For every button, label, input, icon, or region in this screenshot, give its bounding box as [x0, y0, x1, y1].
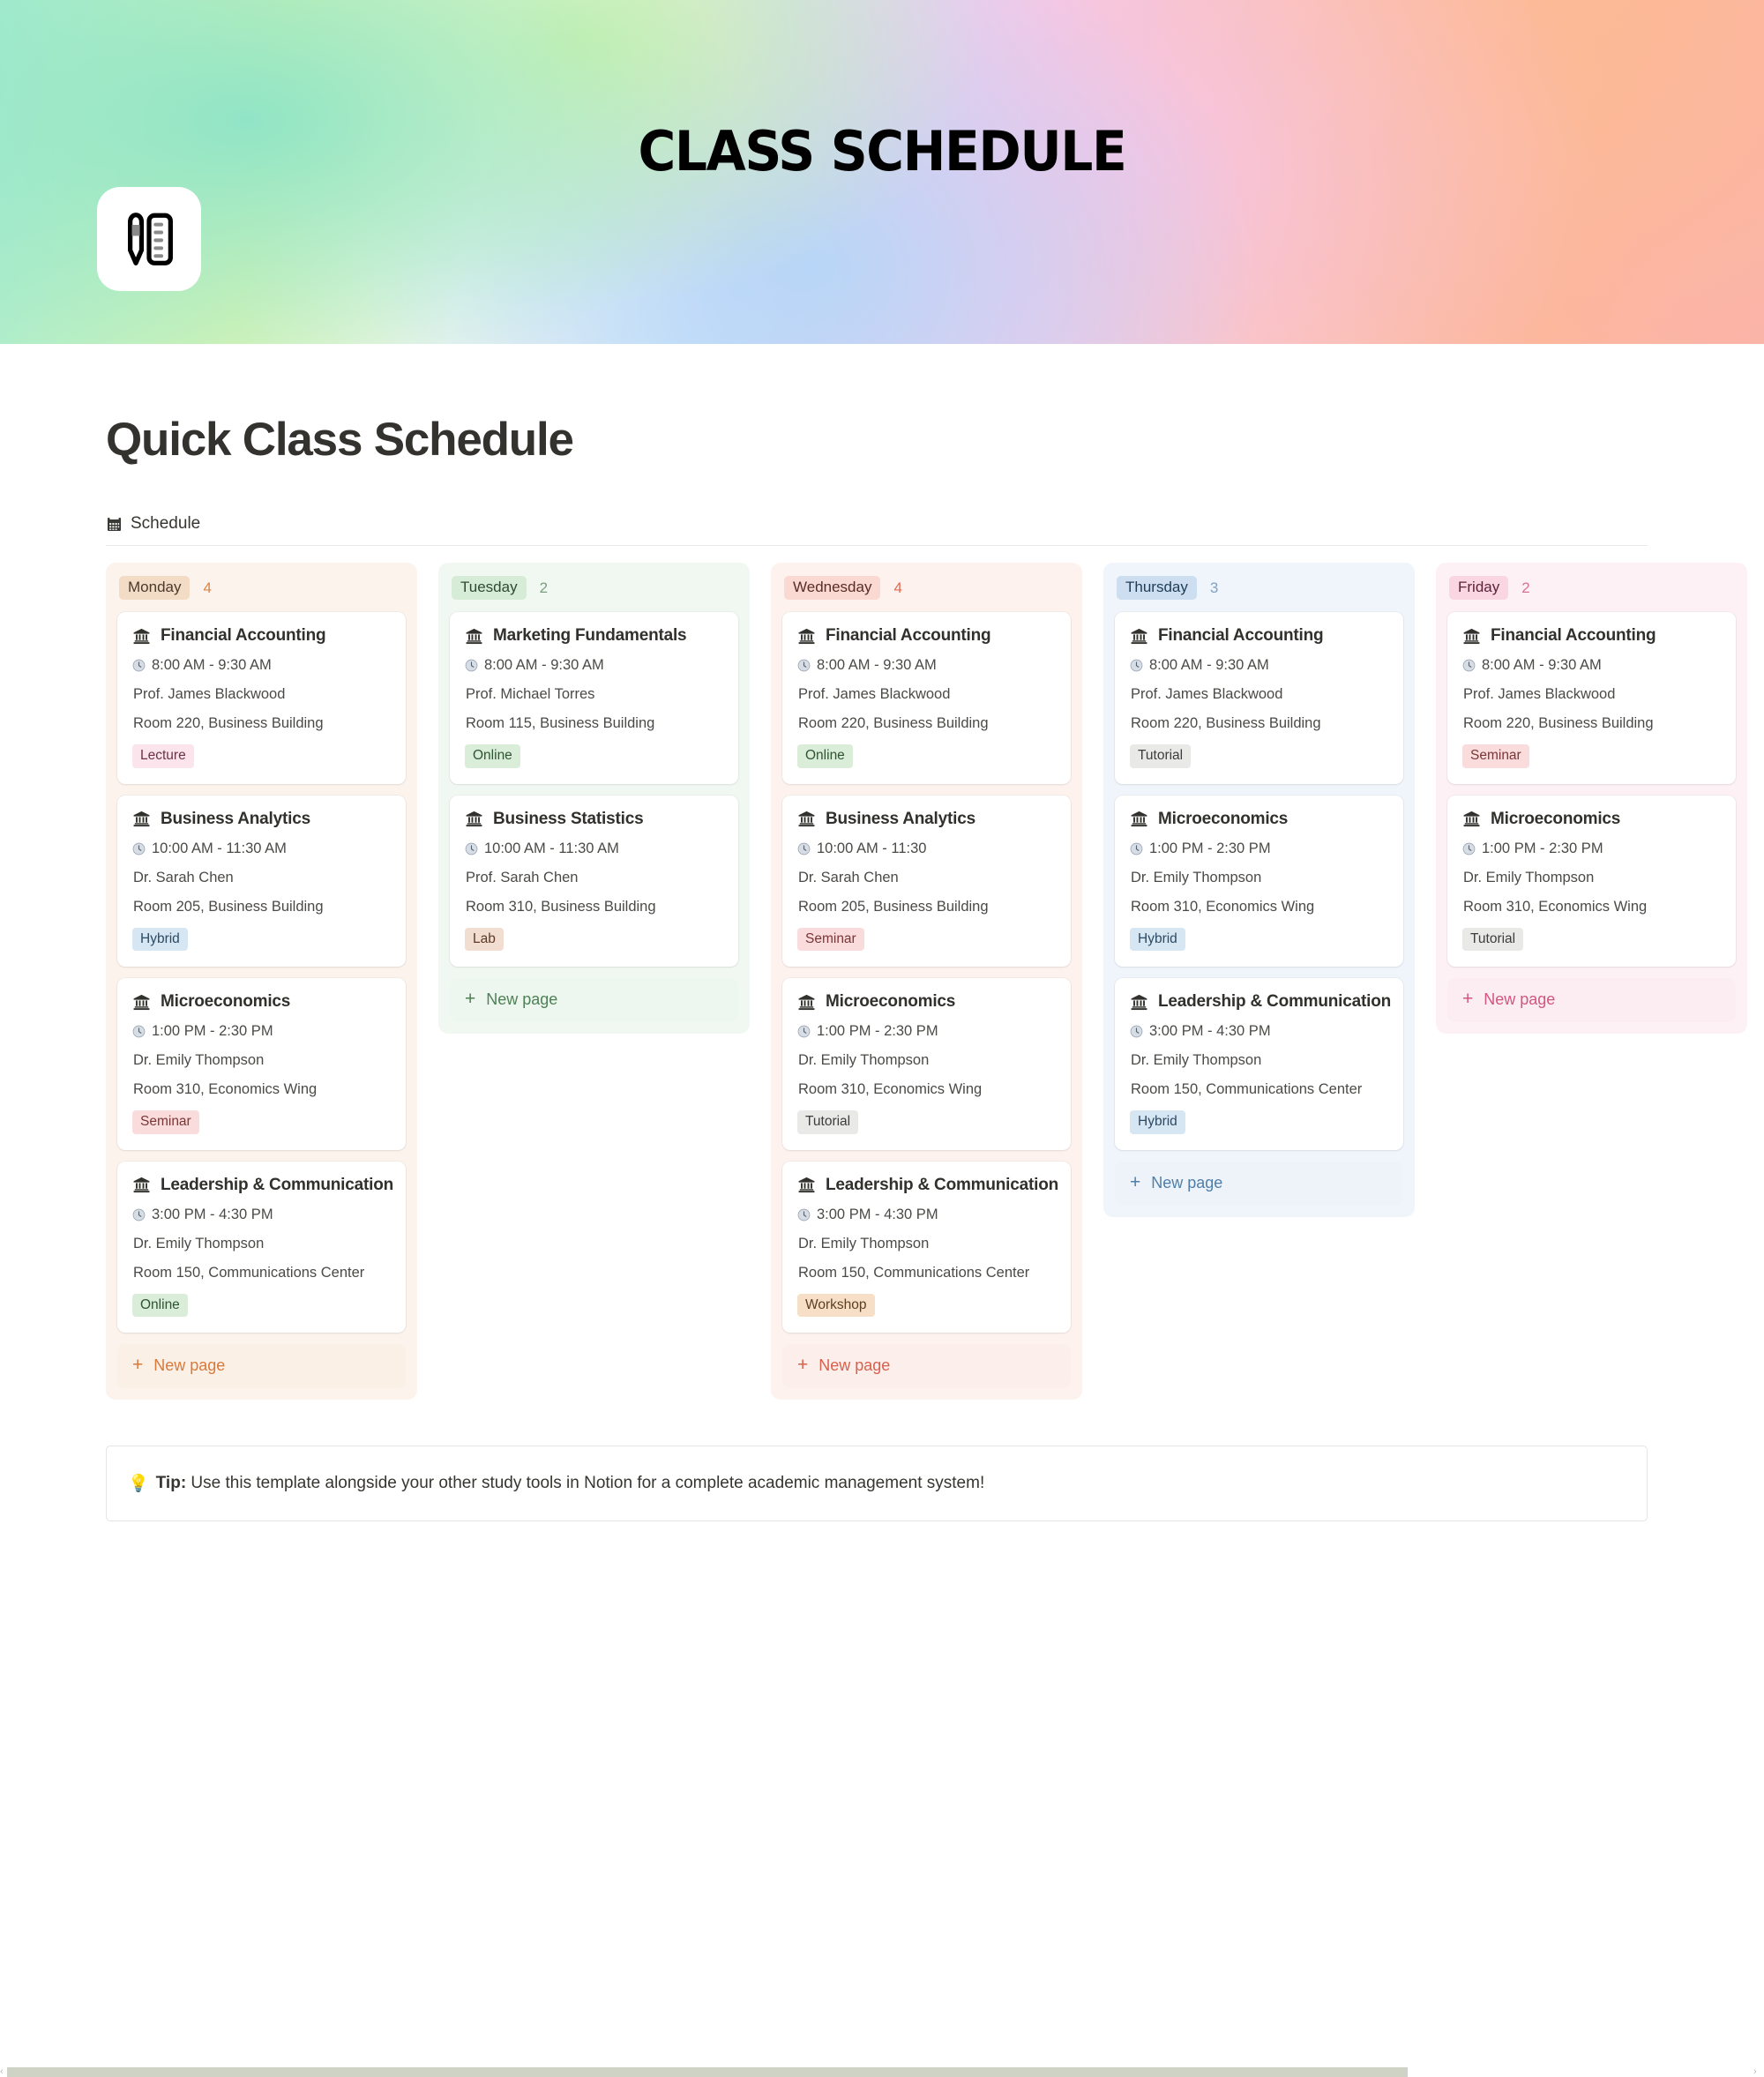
card-time: 8:00 AM - 9:30 AM	[484, 657, 604, 674]
class-card[interactable]: Marketing Fundamentals8:00 AM - 9:30 AMP…	[450, 612, 738, 783]
class-card[interactable]: Microeconomics1:00 PM - 2:30 PMDr. Emily…	[782, 978, 1071, 1149]
card-time: 1:00 PM - 2:30 PM	[1149, 841, 1271, 857]
tip-label: Tip:	[156, 1474, 186, 1492]
new-page-button[interactable]: +New page	[1115, 1162, 1403, 1206]
card-title: Financial Accounting	[1491, 626, 1656, 646]
card-type-tag: Online	[797, 744, 853, 767]
card-type-tag: Tutorial	[797, 1110, 858, 1133]
calendar-icon	[106, 516, 123, 533]
board-column-tuesday: Tuesday2Marketing Fundamentals8:00 AM - …	[438, 563, 750, 1034]
column-day-chip[interactable]: Wednesday	[784, 576, 880, 600]
card-title-row: Financial Accounting	[1130, 626, 1388, 646]
card-title-row: Microeconomics	[1462, 810, 1721, 829]
card-type-tag: Lecture	[132, 744, 194, 767]
bank-building-icon	[132, 810, 151, 828]
clock-icon	[465, 842, 478, 855]
card-instructor: Dr. Emily Thompson	[1462, 870, 1721, 886]
card-title-row: Microeconomics	[797, 992, 1056, 1012]
new-page-button[interactable]: +New page	[782, 1344, 1071, 1388]
bank-building-icon	[1130, 993, 1148, 1012]
new-page-button[interactable]: +New page	[450, 978, 738, 1022]
card-room: Room 220, Business Building	[797, 715, 1056, 732]
column-header: Thursday3	[1117, 576, 1403, 600]
clock-icon	[1462, 659, 1476, 672]
board-column-thursday: Thursday3Financial Accounting8:00 AM - 9…	[1103, 563, 1415, 1217]
bank-building-icon	[1130, 810, 1148, 828]
bank-building-icon	[1462, 627, 1481, 646]
card-room: Room 150, Communications Center	[1130, 1081, 1388, 1098]
card-instructor: Dr. Emily Thompson	[132, 1052, 391, 1069]
card-title-row: Financial Accounting	[1462, 626, 1721, 646]
column-card-count: 2	[540, 579, 548, 597]
cover-banner-title: CLASS SCHEDULE	[53, 119, 1711, 183]
bank-building-icon	[797, 810, 816, 828]
card-title-row: Microeconomics	[132, 992, 391, 1012]
class-card[interactable]: Leadership & Communication3:00 PM - 4:30…	[1115, 978, 1403, 1149]
new-page-button[interactable]: +New page	[1447, 978, 1736, 1022]
card-time: 1:00 PM - 2:30 PM	[817, 1023, 938, 1040]
card-title: Microeconomics	[161, 992, 290, 1012]
card-time-row: 8:00 AM - 9:30 AM	[132, 657, 391, 674]
card-instructor: Dr. Emily Thompson	[1130, 870, 1388, 886]
card-title: Leadership & Communication	[161, 1176, 393, 1195]
card-room: Room 310, Economics Wing	[797, 1081, 1056, 1098]
bank-building-icon	[465, 627, 483, 646]
board-column-friday: Friday2Financial Accounting8:00 AM - 9:3…	[1436, 563, 1747, 1034]
card-time: 8:00 AM - 9:30 AM	[817, 657, 937, 674]
card-title: Microeconomics	[1158, 810, 1288, 829]
card-instructor: Prof. Michael Torres	[465, 686, 723, 703]
card-time: 10:00 AM - 11:30	[817, 841, 926, 857]
card-time: 3:00 PM - 4:30 PM	[817, 1207, 938, 1223]
card-instructor: Dr. Emily Thompson	[132, 1236, 391, 1252]
clock-icon	[132, 659, 146, 672]
card-title: Marketing Fundamentals	[493, 626, 686, 646]
pencil-and-ruler-icon[interactable]	[97, 187, 201, 291]
card-title: Microeconomics	[1491, 810, 1620, 829]
card-time: 10:00 AM - 11:30 AM	[484, 841, 619, 857]
card-type-tag: Lab	[465, 928, 504, 951]
card-type-tag: Seminar	[797, 928, 864, 951]
bank-building-icon	[797, 1176, 816, 1194]
card-type-tag: Hybrid	[1130, 1110, 1185, 1133]
class-card[interactable]: Financial Accounting8:00 AM - 9:30 AMPro…	[117, 612, 406, 783]
card-time-row: 8:00 AM - 9:30 AM	[465, 657, 723, 674]
page-title: Quick Class Schedule	[106, 413, 1764, 467]
class-card[interactable]: Business Analytics10:00 AM - 11:30 AMDr.…	[117, 796, 406, 967]
card-instructor: Dr. Emily Thompson	[1130, 1052, 1388, 1069]
scroll-right-arrow-icon[interactable]: ›	[1753, 2067, 1757, 2077]
class-card[interactable]: Business Statistics10:00 AM - 11:30 AMPr…	[450, 796, 738, 967]
card-title: Business Statistics	[493, 810, 643, 829]
class-card[interactable]: Business Analytics10:00 AM - 11:30Dr. Sa…	[782, 796, 1071, 967]
card-type-tag: Seminar	[132, 1110, 199, 1133]
card-room: Room 150, Communications Center	[132, 1265, 391, 1281]
card-title-row: Leadership & Communication	[132, 1176, 391, 1195]
card-time-row: 3:00 PM - 4:30 PM	[797, 1207, 1056, 1223]
column-day-chip[interactable]: Thursday	[1117, 576, 1197, 600]
column-day-chip[interactable]: Monday	[119, 576, 190, 600]
bank-building-icon	[132, 1176, 151, 1194]
card-title-row: Business Statistics	[465, 810, 723, 829]
column-card-count: 4	[203, 579, 211, 597]
board-column-wednesday: Wednesday4Financial Accounting8:00 AM - …	[771, 563, 1082, 1400]
bank-building-icon	[1462, 810, 1481, 828]
new-page-label: New page	[486, 990, 557, 1009]
card-title: Business Analytics	[161, 810, 310, 829]
horizontal-scrollbar[interactable]: ‹ ›	[0, 2067, 1764, 2077]
card-time-row: 3:00 PM - 4:30 PM	[1130, 1023, 1388, 1040]
clock-icon	[465, 659, 478, 672]
new-page-label: New page	[153, 1356, 225, 1375]
board-column-monday: Monday4Financial Accounting8:00 AM - 9:3…	[106, 563, 417, 1400]
card-type-tag: Tutorial	[1462, 928, 1523, 951]
class-card[interactable]: Microeconomics1:00 PM - 2:30 PMDr. Emily…	[1115, 796, 1403, 967]
card-room: Room 310, Business Building	[465, 899, 723, 915]
clock-icon	[797, 1025, 811, 1038]
clock-icon	[1130, 659, 1143, 672]
card-time-row: 10:00 AM - 11:30	[797, 841, 1056, 857]
bank-building-icon	[797, 993, 816, 1012]
column-header: Friday2	[1449, 576, 1736, 600]
card-time: 8:00 AM - 9:30 AM	[1149, 657, 1269, 674]
card-time: 8:00 AM - 9:30 AM	[1482, 657, 1602, 674]
card-time-row: 1:00 PM - 2:30 PM	[797, 1023, 1056, 1040]
card-time: 8:00 AM - 9:30 AM	[152, 657, 272, 674]
tip-callout: 💡 Tip: Use this template alongside your …	[106, 1446, 1648, 1521]
card-time-row: 10:00 AM - 11:30 AM	[132, 841, 391, 857]
card-instructor: Dr. Emily Thompson	[797, 1052, 1056, 1069]
card-title-row: Business Analytics	[797, 810, 1056, 829]
card-room: Room 220, Business Building	[132, 715, 391, 732]
clock-icon	[1130, 1025, 1143, 1038]
card-time-row: 3:00 PM - 4:30 PM	[132, 1207, 391, 1223]
clock-icon	[132, 1208, 146, 1222]
card-time: 1:00 PM - 2:30 PM	[152, 1023, 273, 1040]
column-card-count: 2	[1521, 579, 1529, 597]
card-title-row: Microeconomics	[1130, 810, 1388, 829]
card-room: Room 205, Business Building	[797, 899, 1056, 915]
card-time-row: 1:00 PM - 2:30 PM	[1130, 841, 1388, 857]
card-type-tag: Hybrid	[1130, 928, 1185, 951]
card-type-tag: Hybrid	[132, 928, 188, 951]
cover-banner: CLASS SCHEDULE	[0, 0, 1764, 344]
new-page-label: New page	[1151, 1174, 1222, 1192]
card-instructor: Prof. James Blackwood	[797, 686, 1056, 703]
clock-icon	[1130, 842, 1143, 855]
column-card-count: 4	[893, 579, 901, 597]
card-title: Financial Accounting	[161, 626, 325, 646]
card-instructor: Prof. James Blackwood	[132, 686, 391, 703]
card-room: Room 310, Economics Wing	[132, 1081, 391, 1098]
card-room: Room 220, Business Building	[1462, 715, 1721, 732]
clock-icon	[1462, 842, 1476, 855]
class-card[interactable]: Leadership & Communication3:00 PM - 4:30…	[117, 1162, 406, 1333]
class-card[interactable]: Microeconomics1:00 PM - 2:30 PMDr. Emily…	[117, 978, 406, 1149]
class-card[interactable]: Financial Accounting8:00 AM - 9:30 AMPro…	[1447, 612, 1736, 783]
card-time: 3:00 PM - 4:30 PM	[152, 1207, 273, 1223]
bank-building-icon	[797, 627, 816, 646]
card-instructor: Prof. Sarah Chen	[465, 870, 723, 886]
column-header: Tuesday2	[452, 576, 738, 600]
plus-icon: +	[1462, 992, 1473, 1007]
clock-icon	[797, 1208, 811, 1222]
class-card[interactable]: Microeconomics1:00 PM - 2:30 PMDr. Emily…	[1447, 796, 1736, 967]
plus-icon: +	[1130, 1176, 1140, 1191]
clock-icon	[797, 842, 811, 855]
tip-body: Use this template alongside your other s…	[186, 1474, 984, 1492]
card-instructor: Prof. James Blackwood	[1130, 686, 1388, 703]
card-title-row: Leadership & Communication	[1130, 992, 1388, 1012]
plus-icon: +	[797, 1358, 808, 1373]
tip-text-wrapper: 💡 Tip: Use this template alongside your …	[128, 1473, 984, 1494]
plus-icon: +	[132, 1358, 143, 1373]
card-title: Leadership & Communication	[1158, 992, 1391, 1012]
card-instructor: Dr. Sarah Chen	[132, 870, 391, 886]
card-title-row: Marketing Fundamentals	[465, 626, 723, 646]
card-title: Financial Accounting	[1158, 626, 1323, 646]
board-wrapper: Monday4Financial Accounting8:00 AM - 9:3…	[0, 563, 1764, 1400]
card-room: Room 205, Business Building	[132, 899, 391, 915]
clock-icon	[797, 659, 811, 672]
card-time-row: 8:00 AM - 9:30 AM	[1462, 657, 1721, 674]
card-instructor: Prof. James Blackwood	[1462, 686, 1721, 703]
card-type-tag: Tutorial	[1130, 744, 1191, 767]
card-type-tag: Online	[465, 744, 520, 767]
bank-building-icon	[132, 993, 151, 1012]
new-page-label: New page	[1484, 990, 1555, 1009]
card-type-tag: Workshop	[797, 1294, 875, 1317]
card-time-row: 8:00 AM - 9:30 AM	[1130, 657, 1388, 674]
card-room: Room 220, Business Building	[1130, 715, 1388, 732]
new-page-button[interactable]: +New page	[117, 1344, 406, 1388]
card-room: Room 310, Economics Wing	[1462, 899, 1721, 915]
column-header: Wednesday4	[784, 576, 1071, 600]
card-time-row: 1:00 PM - 2:30 PM	[132, 1023, 391, 1040]
card-type-tag: Online	[132, 1294, 188, 1317]
card-instructor: Dr. Sarah Chen	[797, 870, 1056, 886]
card-title-row: Leadership & Communication	[797, 1176, 1056, 1195]
card-room: Room 310, Economics Wing	[1130, 899, 1388, 915]
database-title[interactable]: Schedule	[131, 514, 200, 534]
class-card[interactable]: Financial Accounting8:00 AM - 9:30 AMPro…	[782, 612, 1071, 783]
card-time: 10:00 AM - 11:30 AM	[152, 841, 287, 857]
new-page-label: New page	[818, 1356, 890, 1375]
column-day-chip[interactable]: Friday	[1449, 576, 1508, 600]
card-title: Financial Accounting	[826, 626, 990, 646]
card-type-tag: Seminar	[1462, 744, 1529, 767]
card-title-row: Business Analytics	[132, 810, 391, 829]
column-day-chip[interactable]: Tuesday	[452, 576, 527, 600]
bank-building-icon	[465, 810, 483, 828]
card-title: Business Analytics	[826, 810, 975, 829]
card-time-row: 10:00 AM - 11:30 AM	[465, 841, 723, 857]
page-content: Quick Class Schedule	[0, 413, 1764, 1521]
card-title: Leadership & Communication	[826, 1176, 1058, 1195]
card-instructor: Dr. Emily Thompson	[797, 1236, 1056, 1252]
class-card[interactable]: Financial Accounting8:00 AM - 9:30 AMPro…	[1115, 612, 1403, 783]
bank-building-icon	[132, 627, 151, 646]
clock-icon	[132, 1025, 146, 1038]
card-title-row: Financial Accounting	[797, 626, 1056, 646]
card-title: Microeconomics	[826, 992, 955, 1012]
card-time-row: 8:00 AM - 9:30 AM	[797, 657, 1056, 674]
plus-icon: +	[465, 992, 475, 1007]
scrollbar-thumb[interactable]	[7, 2067, 1408, 2077]
clock-icon	[132, 842, 146, 855]
bank-building-icon	[1130, 627, 1148, 646]
column-card-count: 3	[1210, 579, 1218, 597]
kanban-board: Monday4Financial Accounting8:00 AM - 9:3…	[0, 563, 1764, 1400]
column-header: Monday4	[119, 576, 406, 600]
card-room: Room 150, Communications Center	[797, 1265, 1056, 1281]
scroll-left-arrow-icon[interactable]: ‹	[0, 2067, 4, 2077]
card-time: 1:00 PM - 2:30 PM	[1482, 841, 1603, 857]
card-time: 3:00 PM - 4:30 PM	[1149, 1023, 1271, 1040]
card-room: Room 115, Business Building	[465, 715, 723, 732]
card-time-row: 1:00 PM - 2:30 PM	[1462, 841, 1721, 857]
database-header: Schedule	[106, 514, 1648, 546]
lightbulb-icon: 💡	[128, 1473, 149, 1494]
class-card[interactable]: Leadership & Communication3:00 PM - 4:30…	[782, 1162, 1071, 1333]
card-title-row: Financial Accounting	[132, 626, 391, 646]
